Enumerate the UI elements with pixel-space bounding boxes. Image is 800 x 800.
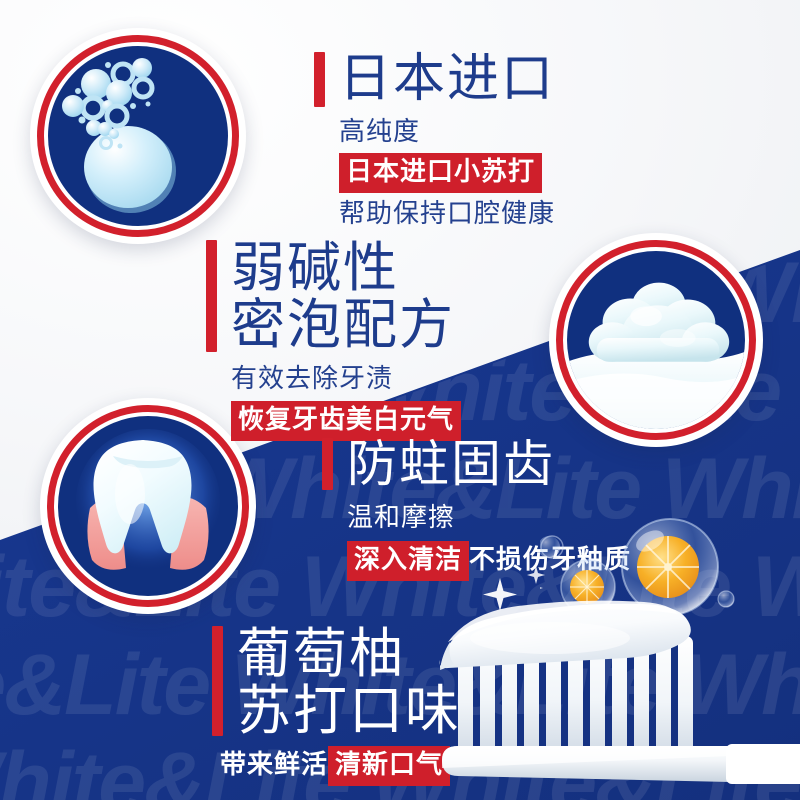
feature-heading-line2: 密泡配方 <box>231 297 455 354</box>
feature-icon-badge-alkaline-foam <box>549 233 763 447</box>
feature-subline-highlight: 日本进口小苏打 <box>339 153 542 193</box>
feature-heading-stack: 葡萄柚 苏打口味 <box>237 626 461 740</box>
baking-soda-bubbles-icon <box>48 46 228 226</box>
feature-heading-row: 防蛀固齿 <box>322 438 631 491</box>
feature-heading-stack: 弱碱性 密泡配方 <box>231 240 455 354</box>
feature-heading-row: 弱碱性 密泡配方 <box>206 240 461 354</box>
feature-heading-row: 葡萄柚 苏打口味 <box>212 626 461 740</box>
feature-heading-row: 日本进口 <box>314 52 555 107</box>
product-feature-poster: White&Lite White&Lite White&Lite White&L… <box>0 0 800 800</box>
badge-red-ring <box>556 240 756 440</box>
feature-heading-line1: 弱碱性 <box>231 240 455 297</box>
badge-red-ring <box>37 35 239 237</box>
feature-icon-badge-japan-import <box>30 28 246 244</box>
feature-subline: 高纯度 <box>339 115 555 149</box>
red-accent-bar <box>212 626 223 736</box>
feature-text-japan-import: 日本进口 高纯度 日本进口小苏打 帮助保持口腔健康 <box>314 52 555 235</box>
feature-heading-line1: 葡萄柚 <box>237 626 461 683</box>
feature-subline: 帮助保持口腔健康 <box>339 197 555 231</box>
feature-subline-plain: 带来鲜活 <box>220 749 328 779</box>
feature-subtext-group: 有效去除牙渍 恢复牙齿美白元气 <box>231 362 461 441</box>
feature-heading: 日本进口 <box>339 52 555 107</box>
red-accent-bar <box>206 240 217 352</box>
feature-text-alkaline-foam: 弱碱性 密泡配方 有效去除牙渍 恢复牙齿美白元气 <box>206 240 461 446</box>
red-accent-bar <box>322 438 333 490</box>
feature-heading: 防蛀固齿 <box>347 438 555 491</box>
feature-subline: 有效去除牙渍 <box>231 362 461 396</box>
feature-heading-line2: 苏打口味 <box>237 683 461 740</box>
feature-subtext-group: 带来鲜活清新口气 <box>220 746 461 786</box>
feature-subtext-group: 高纯度 日本进口小苏打 帮助保持口腔健康 <box>339 115 555 230</box>
toothbrush-with-paste-art <box>430 520 800 800</box>
dense-foam-icon <box>567 251 745 429</box>
feature-text-grapefruit-soda: 葡萄柚 苏打口味 带来鲜活清新口气 <box>212 626 461 786</box>
red-accent-bar <box>314 52 325 107</box>
